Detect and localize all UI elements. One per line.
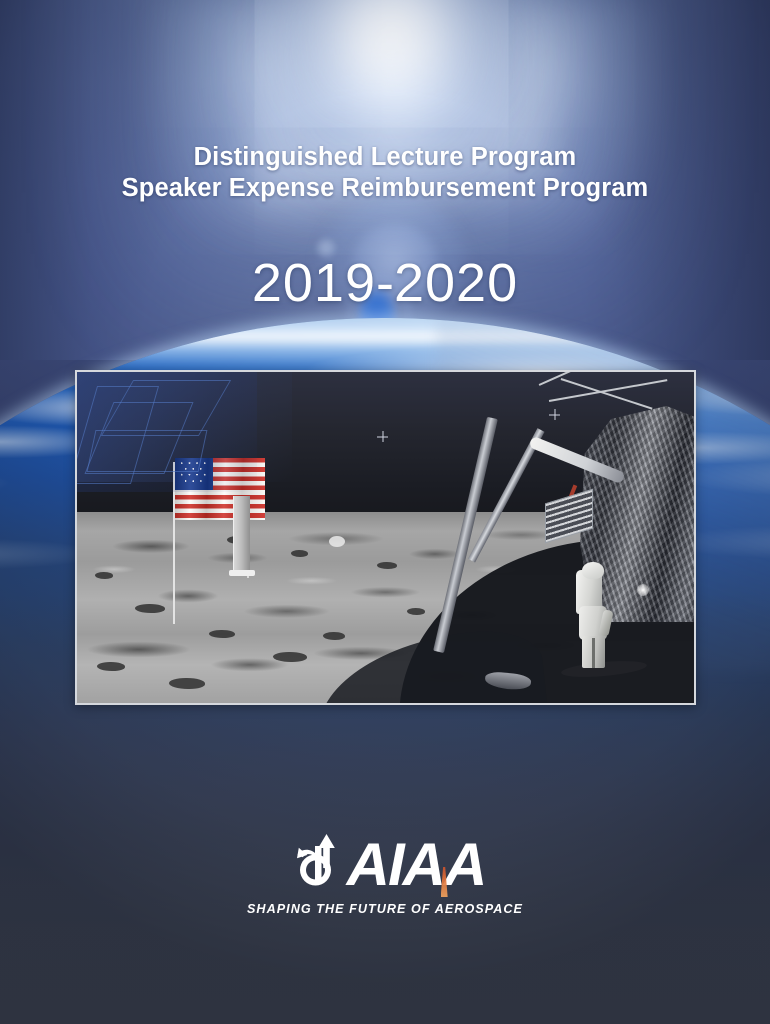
astronaut-legs <box>582 636 605 668</box>
title-line-2: Speaker Expense Reimbursement Program <box>0 173 770 204</box>
aiaa-logo-row: AIAA <box>285 833 486 897</box>
aiaa-wordmark-text: AIAA <box>347 831 486 898</box>
sun-glint <box>637 584 649 596</box>
moon-rock <box>97 662 125 671</box>
astronaut-helmet <box>582 562 604 579</box>
cover-page: Distinguished Lecture Program Speaker Ex… <box>0 0 770 1024</box>
lunar-module-footpad <box>484 671 531 692</box>
moon-rock <box>329 536 345 547</box>
apollo-moon-photo <box>77 372 694 703</box>
moon-rock <box>209 630 235 638</box>
year-start: 2019 <box>252 253 376 313</box>
moon-rock <box>377 562 397 569</box>
moon-rock <box>407 608 425 615</box>
aiaa-tagline: SHAPING THE FUTURE OF AEROSPACE <box>247 902 523 916</box>
cover-title: Distinguished Lecture Program Speaker Ex… <box>0 142 770 204</box>
astronaut <box>575 562 615 670</box>
reseau-mark <box>382 431 384 442</box>
moon-rock <box>135 604 165 613</box>
solar-wind-experiment-base <box>229 570 255 576</box>
title-line-1: Distinguished Lecture Program <box>0 142 770 173</box>
moon-rock <box>169 678 205 689</box>
lunar-module-antenna <box>561 378 653 409</box>
moon-rock <box>95 572 113 579</box>
aiaa-logo: AIAA SHAPING THE FUTURE OF AEROSPACE <box>0 833 770 916</box>
year-separator: - <box>376 253 394 313</box>
moon-rock <box>291 550 308 557</box>
aiaa-arrow-circle-icon <box>285 834 345 896</box>
year-end: 2020 <box>394 253 518 313</box>
solar-wind-experiment-panel <box>233 496 250 572</box>
aiaa-wordmark: AIAA <box>347 835 486 895</box>
moon-rock <box>273 652 307 662</box>
blueprint-overlay-line <box>87 430 208 472</box>
lunar-module-antenna <box>549 379 667 401</box>
cover-photo <box>75 370 696 705</box>
moon-rock <box>323 632 345 640</box>
year-range: 2019-2020 <box>0 253 770 313</box>
